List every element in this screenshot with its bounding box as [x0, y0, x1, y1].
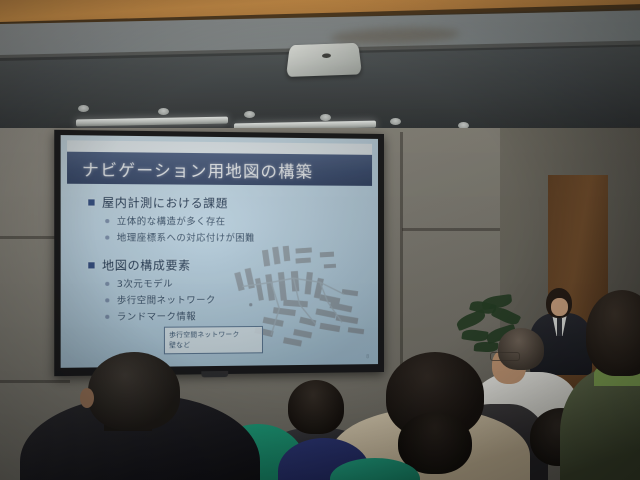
presenter-face [551, 298, 568, 316]
audience-member-head [288, 380, 344, 434]
screen-bottom-bracket [201, 371, 228, 377]
dot-bullet-icon [105, 298, 109, 302]
square-bullet-icon [88, 262, 94, 268]
ceiling-downlight [158, 108, 169, 115]
presentation-slide: ナビゲーション用地図の構築 屋内計測における課題 立体的な構造が多く存在 地理 [61, 135, 378, 368]
ceiling-speaker-icon [286, 43, 362, 77]
square-bullet-icon [88, 199, 94, 205]
slide-subitem-text: 立体的な構造が多く存在 [117, 214, 226, 228]
dot-bullet-icon [105, 314, 109, 318]
slide-subitem-text: ランドマーク情報 [117, 309, 196, 323]
ceiling-downlight [320, 114, 331, 121]
wall-panel-seam [402, 228, 512, 231]
slide-subitem-text: 3次元モデル [117, 277, 173, 291]
foreground-person-head [88, 352, 180, 430]
slide-page-number: 8 [366, 354, 369, 360]
presenter-tie [557, 318, 562, 336]
ceiling-downlight [390, 118, 401, 125]
callout-line-2: 壁など [169, 339, 258, 350]
slide-body: 屋内計測における課題 立体的な構造が多く存在 地理座標系への対応付けが困難 地図… [61, 187, 378, 368]
slide-heading-1: 屋内計測における課題 [88, 194, 378, 212]
slide-heading-text: 屋内計測における課題 [102, 194, 228, 211]
slide-title-bar: ナビゲーション用地図の構築 [67, 152, 372, 186]
foreground-person-ear [80, 388, 94, 408]
dot-bullet-icon [105, 281, 109, 285]
dot-bullet-icon [105, 219, 109, 223]
screen-surface: ナビゲーション用地図の構築 屋内計測における課題 立体的な構造が多く存在 地理 [61, 135, 378, 368]
map-callout-box: 歩行空間ネットワーク 壁など [164, 326, 263, 354]
projection-screen: ナビゲーション用地図の構築 屋内計測における課題 立体的な構造が多く存在 地理 [54, 130, 384, 376]
slide-title: ナビゲーション用地図の構築 [67, 155, 313, 182]
wall-panel-seam [0, 380, 70, 383]
presentation-room-photo: ナビゲーション用地図の構築 屋内計測における課題 立体的な構造が多く存在 地理 [0, 0, 640, 480]
glasses-icon [490, 352, 520, 361]
wall-panel-seam [400, 132, 403, 382]
audience-member-head [498, 328, 544, 370]
slide-subitem-text: 歩行空間ネットワーク [117, 293, 216, 307]
ceiling-downlight [244, 111, 255, 118]
slide-subitem: 立体的な構造が多く存在 [105, 214, 378, 228]
dot-bullet-icon [105, 235, 109, 239]
ceiling-downlight [78, 105, 89, 112]
slide-heading-text: 地図の構成要素 [102, 257, 191, 274]
